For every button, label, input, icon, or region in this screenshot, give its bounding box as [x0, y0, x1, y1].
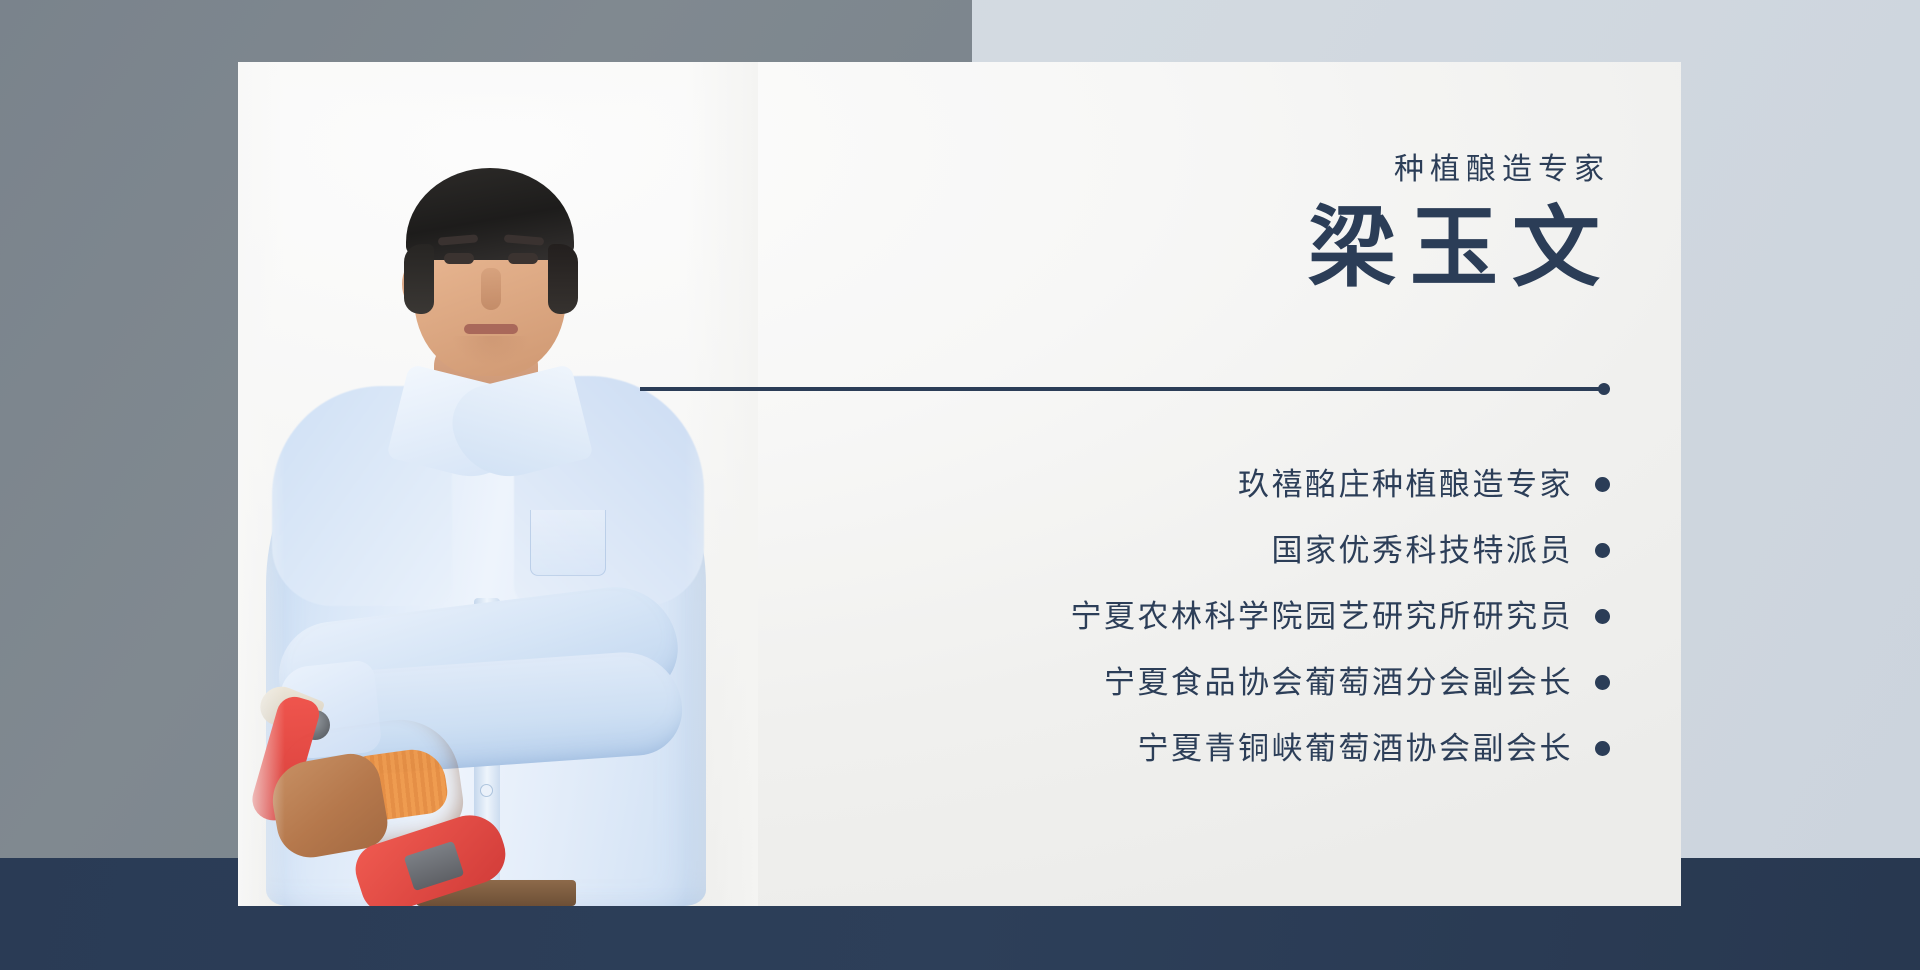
portrait-shirt-pocket	[530, 510, 606, 576]
profile-text-column: 种植酿造专家 梁玉文 玖禧酩庄种植酿造专家 国家优秀科技特派员 宁夏农林科学院园…	[810, 62, 1610, 906]
credential-item: 宁夏农林科学院园艺研究所研究员	[810, 589, 1610, 643]
credential-label: 国家优秀科技特派员	[1272, 535, 1574, 566]
profile-name: 梁玉文	[1308, 202, 1614, 297]
divider	[640, 382, 1610, 396]
profile-subtitle: 种植酿造专家	[1394, 155, 1610, 185]
credential-item: 宁夏青铜峡葡萄酒协会副会长	[810, 721, 1610, 775]
portrait-nose	[481, 268, 501, 310]
portrait-shirt-button	[481, 785, 492, 796]
divider-end-dot	[1598, 383, 1610, 395]
credential-label: 宁夏农林科学院园艺研究所研究员	[1071, 601, 1574, 632]
bullet-dot-icon	[1595, 609, 1610, 624]
bullet-dot-icon	[1595, 477, 1610, 492]
bullet-dot-icon	[1595, 741, 1610, 756]
credential-label: 宁夏食品协会葡萄酒分会副会长	[1104, 667, 1573, 698]
credential-item: 宁夏食品协会葡萄酒分会副会长	[810, 655, 1610, 709]
divider-line	[640, 387, 1603, 391]
credential-label: 宁夏青铜峡葡萄酒协会副会长	[1138, 733, 1574, 764]
bullet-dot-icon	[1595, 543, 1610, 558]
portrait-mouth	[464, 324, 518, 334]
credential-item: 玖禧酩庄种植酿造专家	[810, 457, 1610, 511]
bullet-dot-icon	[1595, 675, 1610, 690]
portrait-photo	[238, 62, 758, 906]
credential-label: 玖禧酩庄种植酿造专家	[1238, 469, 1573, 500]
portrait-eye-left	[444, 253, 474, 264]
profile-card: 种植酿造专家 梁玉文 玖禧酩庄种植酿造专家 国家优秀科技特派员 宁夏农林科学院园…	[238, 62, 1681, 906]
portrait-hair-side-right	[548, 244, 578, 314]
portrait-chin-shadow	[452, 336, 530, 366]
poster-stage: 种植酿造专家 梁玉文 玖禧酩庄种植酿造专家 国家优秀科技特派员 宁夏农林科学院园…	[0, 0, 1920, 970]
portrait-hair-side-left	[404, 244, 434, 314]
credential-list: 玖禧酩庄种植酿造专家 国家优秀科技特派员 宁夏农林科学院园艺研究所研究员 宁夏食…	[810, 457, 1610, 775]
portrait-eye-right	[508, 253, 538, 264]
credential-item: 国家优秀科技特派员	[810, 523, 1610, 577]
